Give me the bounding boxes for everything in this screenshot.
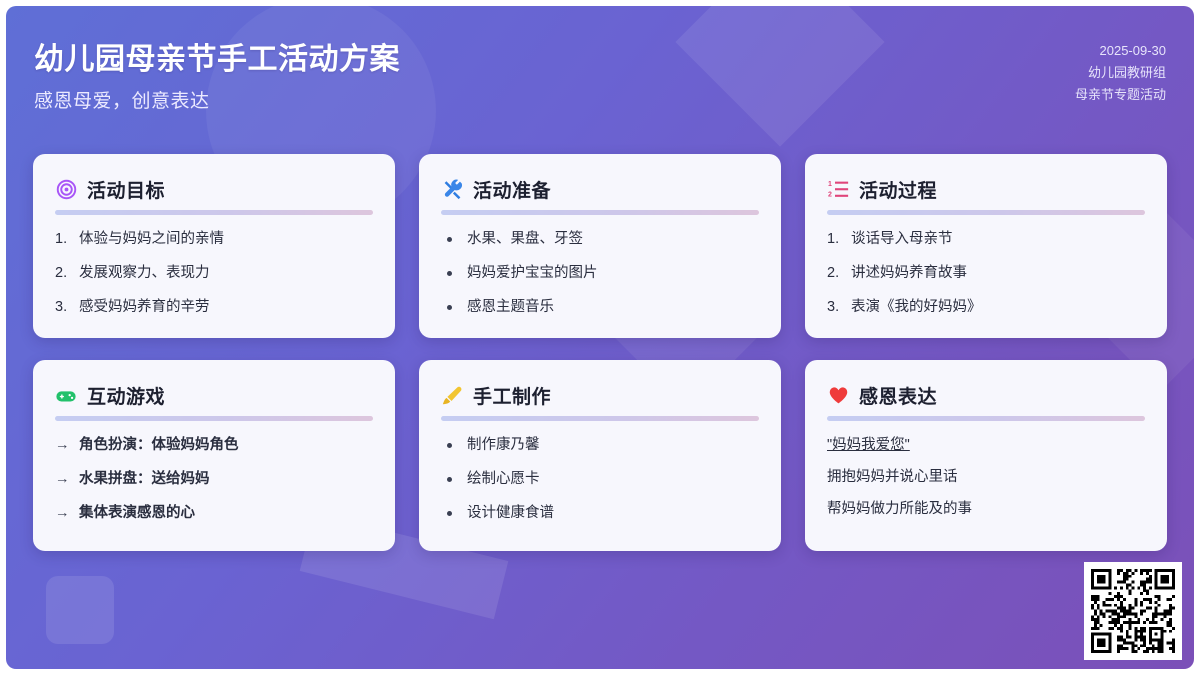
target-icon (55, 179, 77, 201)
card-header: 互动游戏 (55, 382, 373, 409)
meta-org: 幼儿园教研组 (1075, 62, 1166, 84)
paintbrush-icon (441, 385, 463, 407)
card-title: 手工制作 (473, 382, 551, 409)
slide-header: 幼儿园母亲节手工活动方案 感恩母爱，创意表达 2025-09-30 幼儿园教研组… (6, 6, 1194, 146)
card-gratitude-expression: 感恩表达 "妈妈我爱您" 拥抱妈妈并说心里话 帮妈妈做力所能及的事 (805, 360, 1167, 550)
card-header: 手工制作 (441, 382, 759, 409)
list-item: →水果拼盘：送给妈妈 (55, 469, 373, 491)
list-item: 设计健康食谱 (441, 503, 759, 525)
card-handcraft: 手工制作 制作康乃馨 绘制心愿卡 设计健康食谱 (419, 360, 781, 550)
card-title: 活动目标 (87, 176, 165, 203)
page-subtitle: 感恩母爱，创意表达 (34, 86, 210, 113)
card-header: 活动准备 (441, 176, 759, 203)
list-item: "妈妈我爱您" (827, 435, 1145, 457)
card-activity-preparation: 活动准备 水果、果盘、牙签 妈妈爱护宝宝的图片 感恩主题音乐 (419, 154, 781, 338)
card-accent-bar (55, 416, 373, 421)
handcraft-list: 制作康乃馨 绘制心愿卡 设计健康食谱 (441, 435, 759, 524)
card-title: 活动准备 (473, 176, 551, 203)
card-header: 感恩表达 (827, 382, 1145, 409)
card-activity-process: 1 2 活动过程 1.谈话导入母亲节 2.讲述妈妈养育故事 3.表演《我的好妈妈… (805, 154, 1167, 338)
card-grid: 活动目标 1.体验与妈妈之间的亲情 2.发展观察力、表现力 3.感受妈妈养育的辛… (33, 154, 1167, 551)
tools-icon (441, 179, 463, 201)
decorative-rounded-square (46, 576, 114, 644)
list-item: 妈妈爱护宝宝的图片 (441, 263, 759, 285)
preparation-list: 水果、果盘、牙签 妈妈爱护宝宝的图片 感恩主题音乐 (441, 229, 759, 318)
list-item: →角色扮演：体验妈妈角色 (55, 435, 373, 457)
list-item: 1.体验与妈妈之间的亲情 (55, 229, 373, 251)
card-accent-bar (827, 210, 1145, 215)
header-meta: 2025-09-30 幼儿园教研组 母亲节专题活动 (1075, 40, 1166, 106)
numbered-list-icon: 1 2 (827, 179, 849, 201)
slide-canvas: 幼儿园母亲节手工活动方案 感恩母爱，创意表达 2025-09-30 幼儿园教研组… (6, 6, 1194, 669)
card-accent-bar (55, 210, 373, 215)
list-item: 2.讲述妈妈养育故事 (827, 263, 1145, 285)
goals-list: 1.体验与妈妈之间的亲情 2.发展观察力、表现力 3.感受妈妈养育的辛劳 (55, 229, 373, 318)
svg-text:1: 1 (828, 181, 832, 188)
list-item: 3.表演《我的好妈妈》 (827, 297, 1145, 319)
svg-text:2: 2 (828, 192, 832, 199)
list-item: 1.谈话导入母亲节 (827, 229, 1145, 251)
qr-code-image (1091, 569, 1175, 653)
list-item: →集体表演感恩的心 (55, 503, 373, 525)
gratitude-list: "妈妈我爱您" 拥抱妈妈并说心里话 帮妈妈做力所能及的事 (827, 435, 1145, 520)
card-interactive-games: 互动游戏 →角色扮演：体验妈妈角色 →水果拼盘：送给妈妈 →集体表演感恩的心 (33, 360, 395, 550)
list-item: 帮妈妈做力所能及的事 (827, 499, 1145, 521)
card-title: 感恩表达 (859, 382, 937, 409)
card-accent-bar (441, 210, 759, 215)
list-item: 绘制心愿卡 (441, 469, 759, 491)
meta-theme: 母亲节专题活动 (1075, 84, 1166, 106)
list-item: 3.感受妈妈养育的辛劳 (55, 297, 373, 319)
list-item: 制作康乃馨 (441, 435, 759, 457)
card-accent-bar (827, 416, 1145, 421)
qr-code[interactable] (1084, 562, 1182, 660)
process-list: 1.谈话导入母亲节 2.讲述妈妈养育故事 3.表演《我的好妈妈》 (827, 229, 1145, 318)
list-item: 水果、果盘、牙签 (441, 229, 759, 251)
gamepad-icon (55, 385, 77, 407)
heart-icon (827, 385, 849, 407)
list-item: 2.发展观察力、表现力 (55, 263, 373, 285)
games-list: →角色扮演：体验妈妈角色 →水果拼盘：送给妈妈 →集体表演感恩的心 (55, 435, 373, 524)
card-accent-bar (441, 416, 759, 421)
card-header: 活动目标 (55, 176, 373, 203)
list-item: 感恩主题音乐 (441, 297, 759, 319)
card-title: 互动游戏 (87, 382, 165, 409)
page-title: 幼儿园母亲节手工活动方案 (34, 34, 400, 78)
card-activity-goals: 活动目标 1.体验与妈妈之间的亲情 2.发展观察力、表现力 3.感受妈妈养育的辛… (33, 154, 395, 338)
list-item: 拥抱妈妈并说心里话 (827, 467, 1145, 489)
card-title: 活动过程 (859, 176, 937, 203)
meta-date: 2025-09-30 (1075, 40, 1166, 62)
card-header: 1 2 活动过程 (827, 176, 1145, 203)
